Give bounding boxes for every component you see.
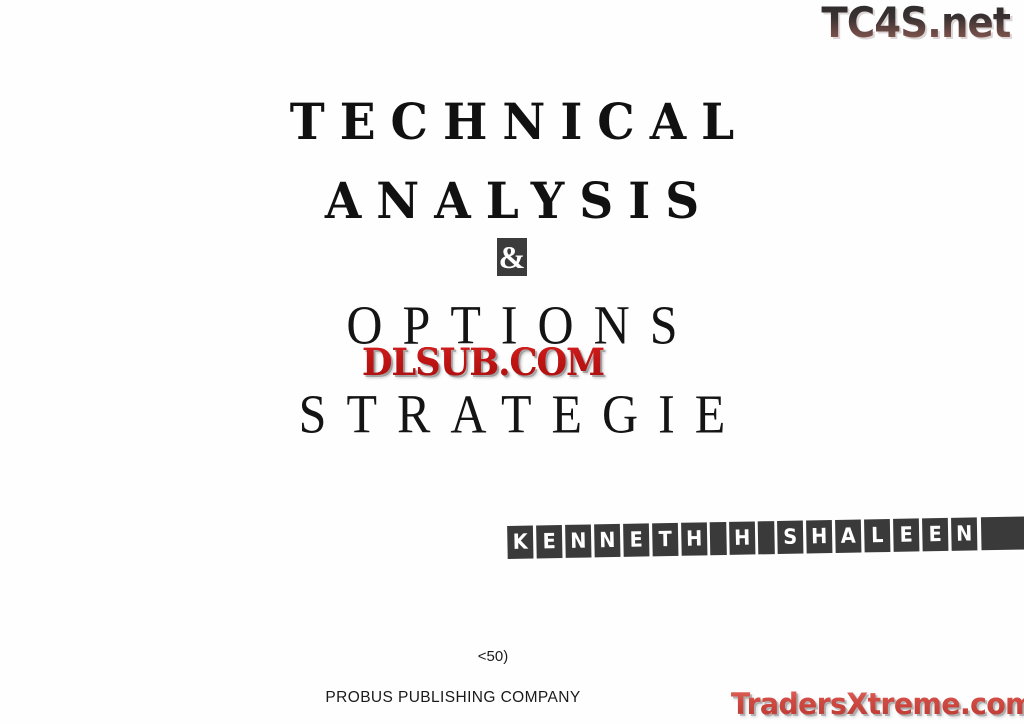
author-letter-box xyxy=(710,522,727,555)
author-letter-box: E xyxy=(536,525,562,558)
author-letter-box xyxy=(981,516,1024,550)
title-line-strategie: STRATEGIE xyxy=(0,382,1024,446)
author-letter-box: E xyxy=(893,518,919,551)
publisher-name: PROBUS PUBLISHING COMPANY xyxy=(325,689,580,707)
publisher-logo-mark: <50) xyxy=(0,648,1024,665)
author-letter-box: H xyxy=(806,520,832,553)
author-letter-box: H xyxy=(729,521,755,554)
author-letter-box: N xyxy=(565,524,591,557)
author-letter-box: H xyxy=(681,522,707,555)
tradersxtreme-watermark: TradersXtreme.com xyxy=(731,687,1024,721)
scanned-cover-image: TC4S.net TC4S.net TECHNICAL ANALYSIS & O… xyxy=(0,0,1024,724)
author-letter-box: K xyxy=(507,526,533,559)
author-letter-box: T xyxy=(652,523,678,556)
ampersand-container: & xyxy=(0,238,1024,276)
title-line-technical: TECHNICAL xyxy=(0,94,1024,151)
ampersand-box: & xyxy=(497,238,527,276)
author-letter-box: N xyxy=(594,524,620,557)
author-letter-box: L xyxy=(864,519,890,552)
book-cover-page: TC4S.net TC4S.net TECHNICAL ANALYSIS & O… xyxy=(0,0,1024,724)
author-letter-box: S xyxy=(777,521,803,554)
author-letter-box: A xyxy=(835,519,861,552)
tc4s-watermark: TC4S.net xyxy=(821,2,1010,44)
author-name-strip: KENNETH H SHALEEN xyxy=(506,516,1024,559)
author-letter-box xyxy=(758,521,775,554)
author-letter-box: E xyxy=(922,518,948,551)
author-letter-box: N xyxy=(951,517,977,550)
dlsub-watermark: DLSUB.COM xyxy=(362,340,604,384)
author-letter-box: E xyxy=(623,523,649,556)
publisher-logo-text: <50) xyxy=(478,648,508,665)
title-line-analysis: ANALYSIS xyxy=(0,173,1024,230)
